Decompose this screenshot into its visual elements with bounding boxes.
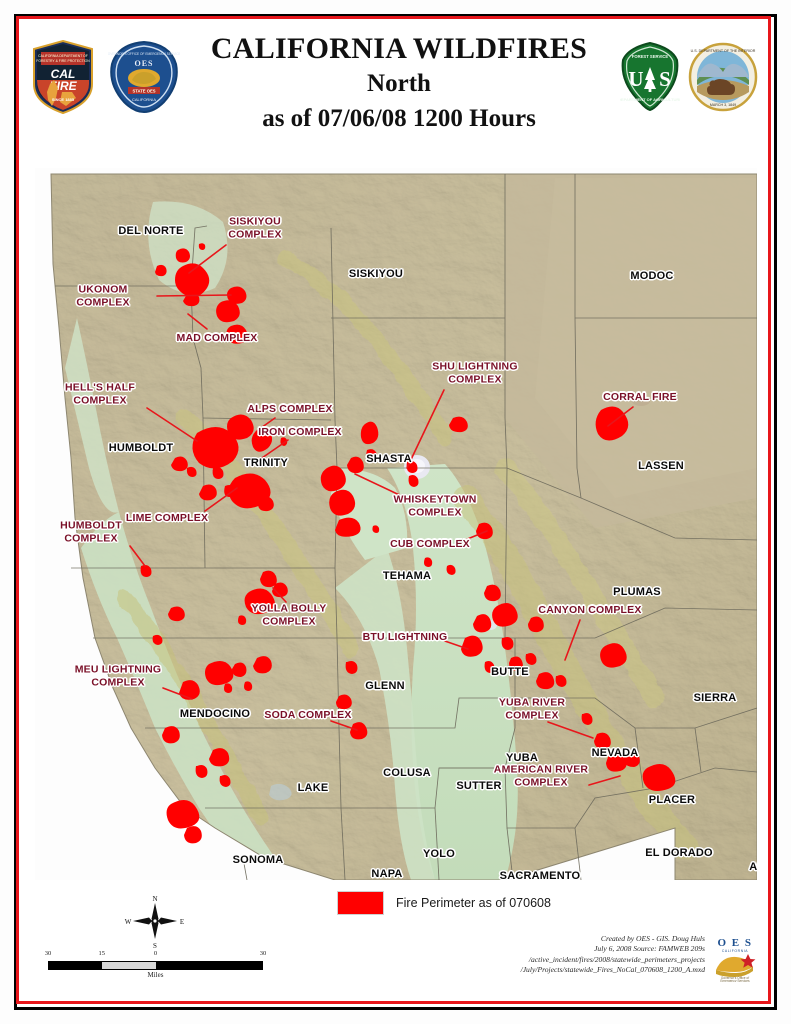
svg-text:Emergency Services: Emergency Services bbox=[720, 979, 750, 982]
credit-line-2: /active_incident/fires/2008/statewide_pe… bbox=[470, 955, 705, 965]
svg-text:FOREST SERVICE: FOREST SERVICE bbox=[632, 54, 669, 59]
map-graphic bbox=[35, 168, 757, 880]
svg-text:DEPARTMENT OF AGRICULTURE: DEPARTMENT OF AGRICULTURE bbox=[620, 97, 680, 102]
compass-west: W bbox=[125, 918, 132, 926]
svg-text:CALIFORNIA: CALIFORNIA bbox=[132, 97, 156, 102]
scale-tick-15: 15 bbox=[99, 950, 106, 957]
svg-text:U.S. DEPARTMENT OF THE INTERIO: U.S. DEPARTMENT OF THE INTERIOR bbox=[691, 49, 756, 53]
map-canvas[interactable]: DEL NORTESISKIYOUMODOCHUMBOLDTTRINITYSHA… bbox=[35, 168, 757, 880]
svg-text:OES: OES bbox=[134, 59, 153, 68]
compass-rose: N S E W bbox=[120, 893, 190, 949]
legend-label: Fire Perimeter as of 070608 bbox=[396, 896, 551, 910]
fire-perimeter-swatch bbox=[337, 891, 384, 915]
scale-bar: 3015030 Miles bbox=[48, 950, 263, 979]
page-date: as of 07/06/08 1200 Hours bbox=[174, 102, 624, 136]
credit-line-3: /July/Projects/statewide_Fires_NoCal_070… bbox=[470, 965, 705, 975]
oes-footer-logo: O E S CALIFORNIA Governor's Office of Em… bbox=[712, 934, 758, 982]
scale-tick-30: 30 bbox=[260, 950, 267, 957]
scale-tick-0: 0 bbox=[154, 950, 157, 957]
svg-text:U: U bbox=[628, 67, 643, 91]
title-block: CALIFORNIA WILDFIRES North as of 07/06/0… bbox=[174, 32, 624, 136]
leader-line-1 bbox=[157, 295, 231, 296]
page-subtitle: North bbox=[174, 66, 624, 102]
svg-text:O E S: O E S bbox=[717, 937, 752, 949]
svg-text:SINCE 1885: SINCE 1885 bbox=[52, 97, 75, 102]
compass-east: E bbox=[180, 918, 184, 926]
scale-bar-unit: Miles bbox=[48, 971, 263, 979]
cal-fire-logo: CALIFORNIA DEPARTMENT OF FORESTRY & FIRE… bbox=[32, 40, 94, 114]
credits-block: Created by OES - GIS. Doug Huls July 6, … bbox=[470, 934, 705, 976]
credit-line-1: July 6, 2008 Source: FAMWEB 209s bbox=[470, 944, 705, 954]
credit-line-0: Created by OES - GIS. Doug Huls bbox=[470, 934, 705, 944]
header: CALIFORNIA DEPARTMENT OF FORESTRY & FIRE… bbox=[24, 28, 764, 158]
us-forest-service-logo: FOREST SERVICE U S DEPARTMENT OF AGRICUL… bbox=[620, 42, 680, 112]
svg-text:GOVERNOR'S OFFICE OF EMERGENCY: GOVERNOR'S OFFICE OF EMERGENCY SERVICES bbox=[108, 52, 180, 56]
svg-text:STATE OES: STATE OES bbox=[132, 89, 155, 94]
scale-bar-graphic bbox=[48, 961, 263, 970]
scale-bar-ticks: 3015030 bbox=[48, 950, 263, 961]
svg-text:FORESTRY & FIRE PROTECTION: FORESTRY & FIRE PROTECTION bbox=[36, 59, 90, 63]
map-page: CALIFORNIA DEPARTMENT OF FORESTRY & FIRE… bbox=[0, 0, 791, 1024]
scale-tick-30: 30 bbox=[45, 950, 52, 957]
legend: Fire Perimeter as of 070608 bbox=[337, 890, 551, 916]
department-of-interior-logo: U.S. DEPARTMENT OF THE INTERIOR MARCH 3,… bbox=[688, 42, 758, 112]
svg-text:MARCH 3, 1849: MARCH 3, 1849 bbox=[710, 103, 736, 107]
compass-north: N bbox=[152, 895, 157, 903]
svg-text:CALIFORNIA DEPARTMENT OF: CALIFORNIA DEPARTMENT OF bbox=[38, 54, 88, 58]
svg-text:S: S bbox=[659, 67, 671, 91]
page-title: CALIFORNIA WILDFIRES bbox=[174, 32, 624, 66]
svg-text:CALIFORNIA: CALIFORNIA bbox=[722, 949, 748, 953]
oes-logo: OES STATE OES CALIFORNIA GOVERNOR'S OFFI… bbox=[108, 40, 180, 114]
compass-south: S bbox=[153, 942, 157, 949]
